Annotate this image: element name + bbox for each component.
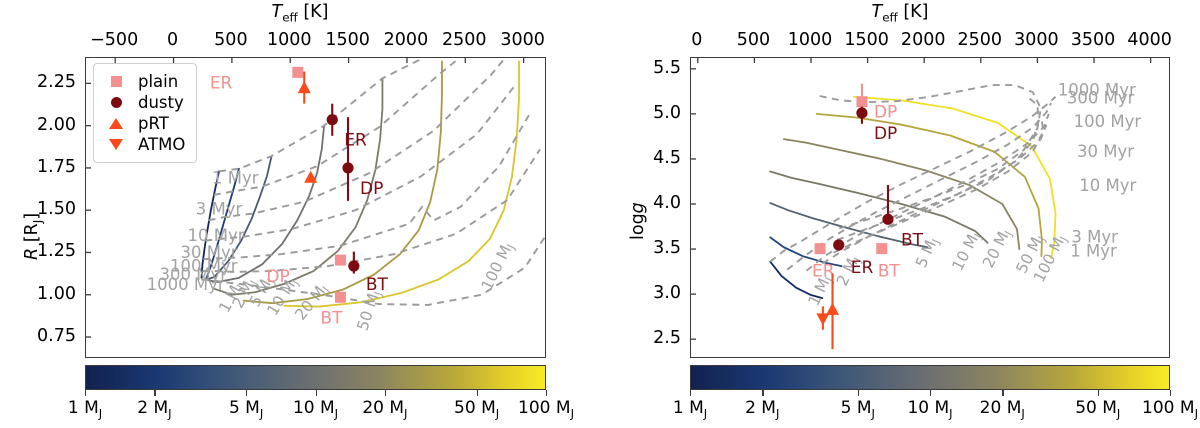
colorbar-tick-label: 100 MJ	[518, 398, 574, 420]
legend-item-atmo: ATMO	[103, 134, 185, 155]
y-tick-label: 2.5	[653, 328, 681, 348]
isomass-label: 10 MJ	[949, 229, 985, 275]
colorbar-tick-label: 20 MJ	[362, 398, 407, 420]
legend-item-prt: pRT	[103, 113, 185, 134]
data-point-dusty	[348, 260, 359, 271]
data-point-dusty	[833, 239, 844, 250]
colorbar-tick	[246, 390, 247, 396]
x-tick-label: 0	[167, 30, 178, 50]
isochrone-label: 100 Myr	[1074, 112, 1142, 131]
colorbar-tick	[762, 390, 763, 396]
data-point-prt	[826, 303, 839, 315]
x-tick-label: 2000	[384, 30, 429, 50]
y-tick-label: 5.0	[653, 103, 681, 123]
colorbar-tick-label: 20 MJ	[980, 398, 1025, 420]
x-tick-label: 4000	[1127, 30, 1172, 50]
colorbar-tick	[1002, 390, 1003, 396]
data-point-plain	[815, 243, 826, 254]
y-tick-label: 3.5	[653, 238, 681, 258]
colorbar-tick-label: 2 MJ	[137, 398, 171, 420]
isomass-label: 100 MJ	[478, 240, 518, 295]
y-tick-label: 4.0	[653, 193, 681, 213]
legend-label-prt: pRT	[129, 114, 169, 133]
data-point-label: DP	[360, 179, 383, 199]
colorbar-tick	[690, 390, 691, 396]
colorbar-tick	[85, 390, 86, 396]
data-point-plain	[335, 255, 346, 266]
x-tick-label: 2500	[958, 30, 1003, 50]
data-point-plain	[876, 243, 887, 254]
data-point-label: BT	[366, 275, 389, 295]
data-point-label: DP	[266, 267, 289, 287]
data-point-plain	[292, 67, 303, 78]
colorbar-tick-label: 10 MJ	[293, 398, 338, 420]
x-tick-label: 3500	[1071, 30, 1116, 50]
data-point-label: BT	[320, 308, 343, 328]
y-tick-label: 1.50	[37, 199, 76, 219]
circle-marker-icon	[103, 97, 129, 108]
y-tick-label: 2.25	[37, 72, 76, 92]
legend-item-plain: plain	[103, 71, 185, 92]
colorbar-tick-label: 1 MJ	[68, 398, 102, 420]
x-tick-label: 2000	[901, 30, 946, 50]
y-tick-label: 5.5	[653, 58, 681, 78]
data-point-label: ER	[210, 73, 233, 93]
colorbar-tick-label: 1 MJ	[673, 398, 707, 420]
y-tick-label: 1.25	[37, 241, 76, 261]
x-tick-label: −500	[90, 30, 138, 50]
colorbar-left	[85, 365, 546, 390]
colorbar-tick-label: 10 MJ	[907, 398, 952, 420]
colorbar-tick	[930, 390, 931, 396]
legend-label-dusty: dusty	[129, 93, 184, 112]
data-point-label: ER	[851, 258, 874, 278]
colorbar-tick	[154, 390, 155, 396]
y-axis-title-right: logg	[628, 202, 648, 240]
data-point-dusty	[327, 114, 338, 125]
data-point-label: BT	[901, 230, 924, 250]
x-tick-label: 3000	[500, 30, 545, 50]
colorbar-tick-label: 50 MJ	[1075, 398, 1120, 420]
x-tick-label: 0	[691, 30, 702, 50]
colorbar-tick-label: 50 MJ	[454, 398, 499, 420]
figure-root: Teff [K] R [RJ] 1 Myr3 Myr10 Myr30 Myr10…	[0, 0, 1200, 428]
colorbar-tick	[858, 390, 859, 396]
data-point-dusty	[856, 107, 867, 118]
data-point-label: DP	[874, 124, 897, 144]
panel-logg: Teff [K] logg 1000 Myr300 Myr100 Myr30 M…	[600, 0, 1200, 428]
colorbar-tick-label: 2 MJ	[745, 398, 779, 420]
x-axis-title-left: Teff [K]	[0, 2, 600, 25]
colorbar-tick	[477, 390, 478, 396]
colorbar-tick-label: 5 MJ	[229, 398, 263, 420]
x-tick-label: 1500	[844, 30, 889, 50]
legend-item-dusty: dusty	[103, 92, 185, 113]
data-point-atmo	[816, 313, 829, 325]
colorbar-tick	[546, 390, 547, 396]
colorbar-tick	[385, 390, 386, 396]
legend-label-atmo: ATMO	[129, 135, 185, 154]
y-tick-label: 0.75	[37, 326, 76, 346]
isochrone-label: 3 Myr	[196, 200, 243, 219]
plot-area-right: 1000 Myr300 Myr100 Myr30 Myr10 Myr3 Myr1…	[690, 57, 1170, 358]
data-point-label: ER	[812, 262, 835, 282]
isochrone-label: 30 Myr	[1077, 142, 1134, 161]
triangle-down-marker-icon	[103, 139, 129, 150]
x-axis-title-right: Teff [K]	[600, 2, 1200, 25]
isochrone-label: 1 Myr	[212, 168, 259, 187]
x-tick-label: 3000	[1014, 30, 1059, 50]
data-point-plain	[856, 96, 867, 107]
square-marker-icon	[103, 76, 129, 87]
colorbar-right	[690, 365, 1170, 390]
x-tick-label: 1000	[267, 30, 312, 50]
legend: plain dusty pRT ATMO	[93, 63, 197, 163]
y-tick-label: 1.75	[37, 157, 76, 177]
data-point-dusty	[342, 162, 353, 173]
data-point-prt	[298, 81, 311, 93]
x-tick-label: 2500	[442, 30, 487, 50]
y-tick-label: 2.00	[37, 115, 76, 135]
data-point-dusty	[882, 214, 893, 225]
isochrone-label: 1 Myr	[1070, 241, 1117, 260]
colorbar-tick	[316, 390, 317, 396]
triangle-up-marker-icon	[103, 118, 129, 129]
isochrone-label: 10 Myr	[1079, 176, 1136, 195]
data-point-label: DP	[874, 103, 897, 123]
y-tick-label: 4.5	[653, 148, 681, 168]
data-point-plain	[335, 292, 346, 303]
legend-label-plain: plain	[129, 72, 178, 91]
isomass-label: 20 MJ	[979, 226, 1015, 272]
x-tick-label: 1000	[788, 30, 833, 50]
colorbar-tick-label: 100 MJ	[1142, 398, 1198, 420]
colorbar-tick	[1170, 390, 1171, 396]
colorbar-tick	[1098, 390, 1099, 396]
x-tick-label: 500	[737, 30, 770, 50]
y-tick-label: 1.00	[37, 284, 76, 304]
x-tick-label: 1500	[325, 30, 370, 50]
isochrone-label: 1000 Myr	[147, 275, 225, 294]
panel-radius: Teff [K] R [RJ] 1 Myr3 Myr10 Myr30 Myr10…	[0, 0, 600, 428]
isochrone-label: 300 Myr	[1067, 89, 1135, 108]
y-tick-label: 3.0	[653, 283, 681, 303]
data-point-label: BT	[878, 262, 901, 282]
colorbar-tick-label: 5 MJ	[841, 398, 875, 420]
x-tick-label: 500	[214, 30, 247, 50]
